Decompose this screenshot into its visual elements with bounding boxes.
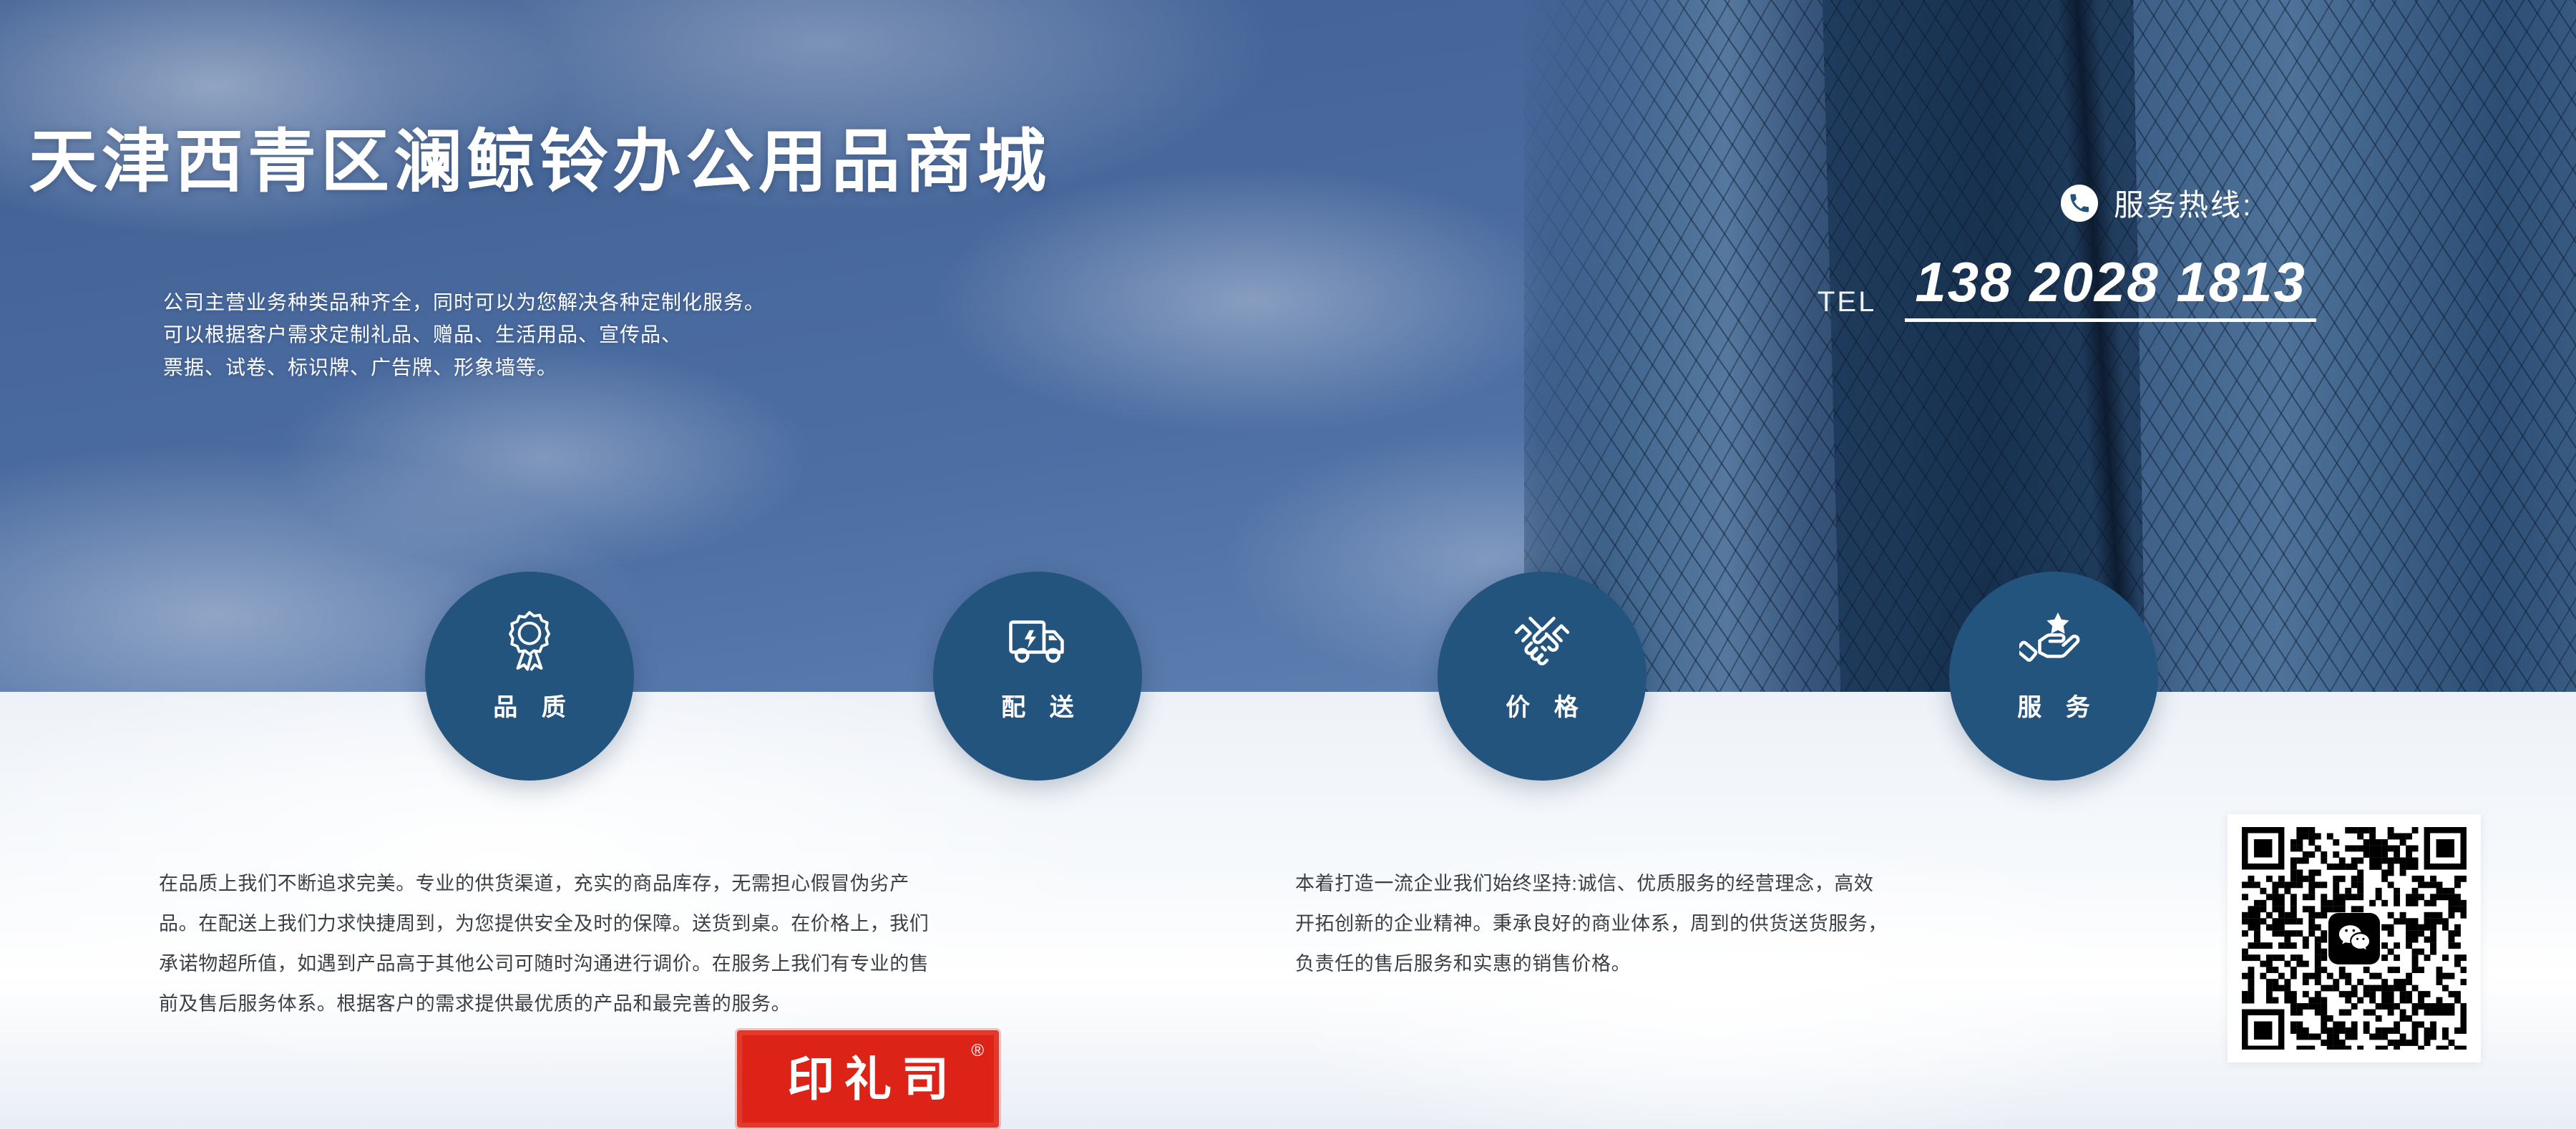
poster-canvas: 天津西青区澜鲸铃办公用品商城 公司主营业务种类品种齐全，同时可以为您解决各种定制…: [0, 0, 2576, 1129]
tel-label: TEL: [1818, 288, 1876, 322]
feature-label: 品 质: [484, 688, 574, 723]
seal-text: 印礼司: [777, 1055, 959, 1103]
about-left-line-3: 承诺物超所值，如遇到产品高于其他公司可随时沟通进行调价。在服务上我们有专业的售: [159, 944, 929, 984]
about-paragraph-right: 本着打造一流企业我们始终坚持:诚信、优质服务的经营理念，高效 开拓创新的企业精神…: [1295, 864, 1888, 984]
delivery-truck-icon: [1003, 606, 1072, 675]
intro-line-2: 可以根据客户需求定制礼品、赠品、生活用品、宣传品、: [163, 318, 765, 351]
hotline-label: 服务热线:: [2114, 181, 2253, 225]
about-left-line-1: 在品质上我们不断追求完美。专业的供货渠道，充实的商品库存，无需担心假冒伪劣产: [159, 864, 929, 904]
page-title: 天津西青区澜鲸铃办公用品商城: [29, 127, 1050, 196]
phone-icon: [2061, 185, 2098, 222]
about-right-line-1: 本着打造一流企业我们始终坚持:诚信、优质服务的经营理念，高效: [1295, 864, 1888, 904]
tower-right: [2132, 0, 2576, 692]
hand-star-icon: [2019, 606, 2088, 675]
intro-line-3: 票据、试卷、标识牌、广告牌、形象墙等。: [163, 351, 765, 383]
about-right-line-2: 开拓创新的企业精神。秉承良好的商业体系，周到的供货送货服务，: [1295, 904, 1888, 944]
about-right-line-3: 负责任的售后服务和实惠的销售价格。: [1295, 944, 1888, 984]
wechat-qr-code[interactable]: [2228, 814, 2481, 1062]
award-ribbon-icon: [495, 606, 564, 675]
registered-mark: ®: [971, 1042, 984, 1060]
feature-label: 服 务: [2009, 688, 2098, 723]
about-left-line-2: 品。在配送上我们力求快捷周到，为您提供安全及时的保障。送货到桌。在价格上，我们: [159, 904, 929, 944]
about-left-line-4: 前及售后服务体系。根据客户的需求提供最优质的产品和最完善的服务。: [159, 984, 929, 1024]
feature-circle-quality[interactable]: 品 质: [425, 572, 634, 781]
feature-label: 配 送: [992, 688, 1082, 723]
about-paragraph-left: 在品质上我们不断追求完美。专业的供货渠道，充实的商品库存，无需担心假冒伪劣产 品…: [159, 864, 929, 1025]
telephone-row: TEL 138 2028 1813: [1818, 254, 2316, 322]
company-seal-logo: 印礼司 ®: [737, 1030, 999, 1128]
handshake-icon: [1508, 606, 1576, 675]
intro-line-1: 公司主营业务种类品种齐全，同时可以为您解决各种定制化服务。: [163, 286, 765, 318]
intro-paragraph: 公司主营业务种类品种齐全，同时可以为您解决各种定制化服务。 可以根据客户需求定制…: [163, 286, 765, 383]
service-hotline: 服务热线:: [2061, 181, 2253, 225]
wechat-logo-icon: [2328, 913, 2380, 964]
feature-circle-price[interactable]: 价 格: [1438, 572, 1646, 781]
feature-label: 价 格: [1497, 688, 1586, 723]
tel-number[interactable]: 138 2028 1813: [1905, 254, 2316, 322]
feature-circle-service[interactable]: 服 务: [1949, 572, 2158, 781]
feature-circle-delivery[interactable]: 配 送: [933, 572, 1142, 781]
